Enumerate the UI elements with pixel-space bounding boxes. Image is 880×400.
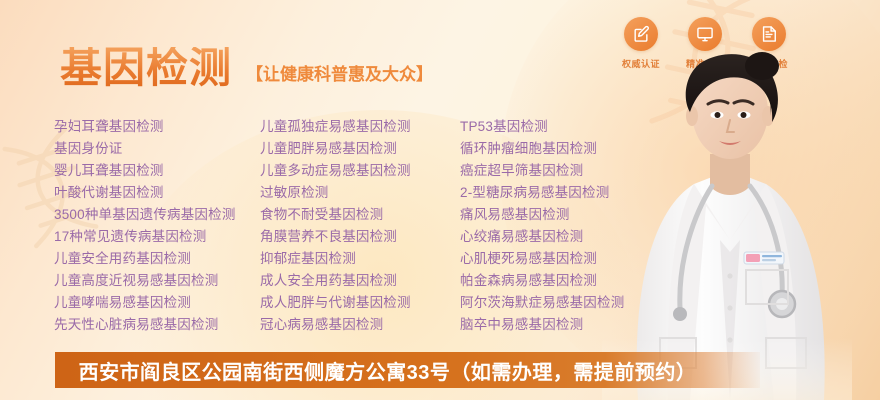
gene-testing-poster: 基因检测 【让健康科普惠及大众】 权威认证 精准分型: [0, 0, 880, 400]
list-item[interactable]: 儿童哮喘易感基因检测: [54, 292, 260, 314]
document-report-icon: [752, 17, 786, 51]
list-item[interactable]: 脑卒中易感基因检测: [460, 314, 666, 336]
feature-item-precision[interactable]: 精准分型: [682, 17, 728, 70]
list-item[interactable]: 癌症超早筛基因检测: [460, 160, 666, 182]
list-item[interactable]: 食物不耐受基因检测: [260, 204, 460, 226]
list-item[interactable]: 儿童多动症易感基因检测: [260, 160, 460, 182]
list-item[interactable]: TP53基因检测: [460, 116, 666, 138]
monitor-screen-icon: [688, 17, 722, 51]
list-item[interactable]: 儿童高度近视易感基因检测: [54, 270, 260, 292]
list-item[interactable]: 儿童安全用药基因检测: [54, 248, 260, 270]
test-list-columns: 孕妇耳聋基因检测 基因身份证 婴儿耳聋基因检测 叶酸代谢基因检测 3500种单基…: [54, 116, 674, 336]
list-item[interactable]: 帕金森病易感基因检测: [460, 270, 666, 292]
list-item[interactable]: 过敏原检测: [260, 182, 460, 204]
test-list-column-1: 孕妇耳聋基因检测 基因身份证 婴儿耳聋基因检测 叶酸代谢基因检测 3500种单基…: [54, 116, 260, 336]
feature-label-precision: 精准分型: [686, 57, 724, 70]
feature-badge-group: 权威认证 精准分型 轻松自检: [618, 17, 792, 70]
list-item[interactable]: 基因身份证: [54, 138, 260, 160]
list-item[interactable]: 孕妇耳聋基因检测: [54, 116, 260, 138]
list-item[interactable]: 成人安全用药基因检测: [260, 270, 460, 292]
list-item[interactable]: 先天性心脏病易感基因检测: [54, 314, 260, 336]
list-item[interactable]: 抑郁症基因检测: [260, 248, 460, 270]
address-banner: 西安市阎良区公园南街西侧魔方公寓33号（如需办理，需提前预约）: [55, 352, 760, 388]
list-item[interactable]: 3500种单基因遗传病基因检测: [54, 204, 260, 226]
feature-item-authority[interactable]: 权威认证: [618, 17, 664, 70]
address-text: 西安市阎良区公园南街西侧魔方公寓33号（如需办理，需提前预约）: [79, 356, 737, 385]
list-item[interactable]: 阿尔茨海默症易感基因检测: [460, 292, 666, 314]
list-item[interactable]: 心绞痛易感基因检测: [460, 226, 666, 248]
list-item[interactable]: 2-型糖尿病易感基因检测: [460, 182, 666, 204]
list-item[interactable]: 17种常见遗传病基因检测: [54, 226, 260, 248]
feature-label-selfcheck: 轻松自检: [750, 57, 788, 70]
list-item[interactable]: 儿童肥胖易感基因检测: [260, 138, 460, 160]
test-list-column-3: TP53基因检测 循环肿瘤细胞基因检测 癌症超早筛基因检测 2-型糖尿病易感基因…: [460, 116, 666, 336]
edit-pencil-icon: [624, 17, 658, 51]
list-item[interactable]: 成人肥胖与代谢基因检测: [260, 292, 460, 314]
test-list-column-2: 儿童孤独症易感基因检测 儿童肥胖易感基因检测 儿童多动症易感基因检测 过敏原检测…: [260, 116, 460, 336]
poster-header: 基因检测 【让健康科普惠及大众】: [60, 47, 433, 89]
list-item[interactable]: 心肌梗死易感基因检测: [460, 248, 666, 270]
list-item[interactable]: 叶酸代谢基因检测: [54, 182, 260, 204]
list-item[interactable]: 痛风易感基因检测: [460, 204, 666, 226]
list-item[interactable]: 婴儿耳聋基因检测: [54, 160, 260, 182]
page-subtitle: 【让健康科普惠及大众】: [246, 60, 433, 89]
list-item[interactable]: 冠心病易感基因检测: [260, 314, 460, 336]
feature-item-selfcheck[interactable]: 轻松自检: [746, 17, 792, 70]
list-item[interactable]: 角膜营养不良基因检测: [260, 226, 460, 248]
page-title: 基因检测: [60, 47, 232, 89]
list-item[interactable]: 循环肿瘤细胞基因检测: [460, 138, 666, 160]
list-item[interactable]: 儿童孤独症易感基因检测: [260, 116, 460, 138]
feature-label-authority: 权威认证: [622, 57, 660, 70]
